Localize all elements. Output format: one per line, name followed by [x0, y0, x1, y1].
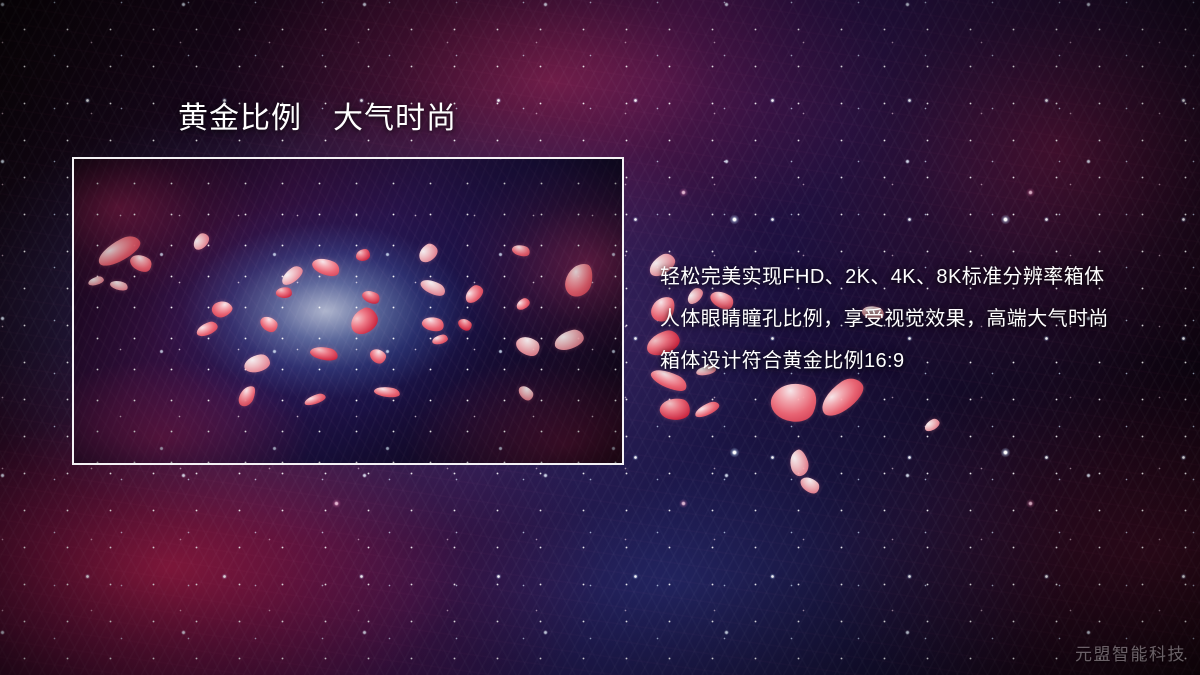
body-line-3: 箱体设计符合黄金比例16:9	[660, 340, 1160, 382]
petal-shape	[658, 396, 691, 423]
page-title: 黄金比例 大气时尚	[178, 102, 457, 137]
petal-shape	[923, 417, 942, 433]
panel-vignette	[74, 159, 622, 463]
petal-shape	[798, 473, 822, 497]
presentation-slide: 黄金比例 大气时尚 轻松完美实现FHD、2K、4K、8K标准分辨率箱体 人体眼睛…	[0, 0, 1200, 675]
petal-shape	[693, 400, 721, 420]
watermark-label: 元盟智能科技	[1075, 640, 1186, 665]
body-line-1: 轻松完美实现FHD、2K、4K、8K标准分辨率箱体	[660, 256, 1160, 298]
petal-shape	[766, 375, 822, 429]
body-line-2: 人体眼睛瞳孔比例，享受视觉效果，高端大气时尚	[660, 298, 1160, 340]
petal-shape	[786, 448, 811, 478]
body-text-block: 轻松完美实现FHD、2K、4K、8K标准分辨率箱体 人体眼睛瞳孔比例，享受视觉效…	[660, 256, 1160, 382]
framed-image-panel	[72, 157, 624, 465]
